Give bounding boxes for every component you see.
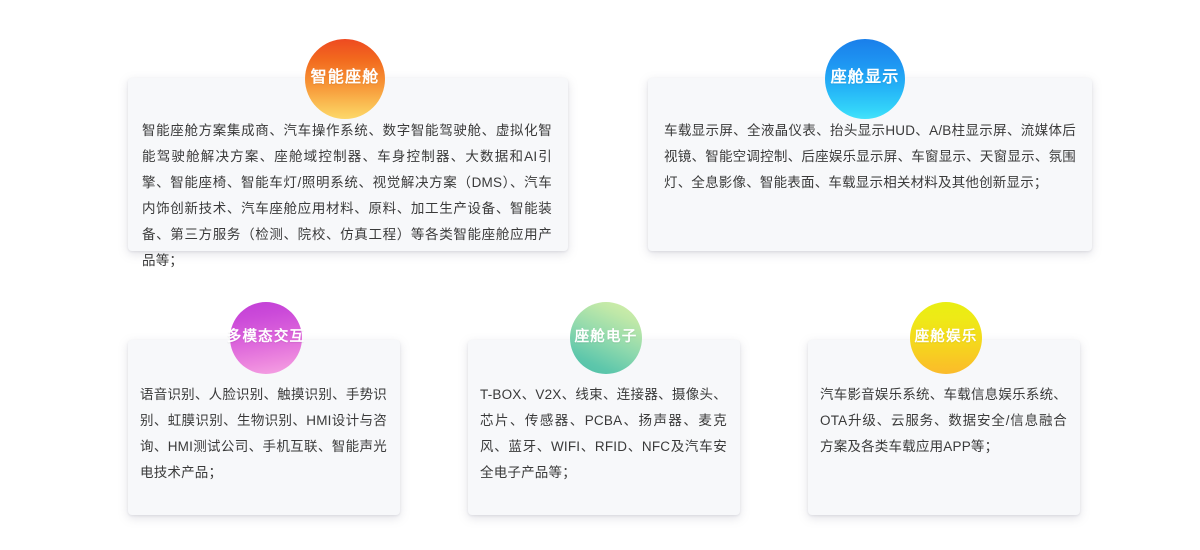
badge-label-cockpit-electronics: 座舱电子	[575, 330, 638, 345]
badge-label-cockpit-entertainment: 座舱娱乐	[915, 330, 978, 345]
card-body-multimodal-interaction: 语音识别、人脸识别、触摸识别、手势识别、虹膜识别、生物识别、HMI设计与咨询、H…	[140, 382, 387, 486]
card-body-intelligent-cockpit: 智能座舱方案集成商、汽车操作系统、数字智能驾驶舱、虚拟化智能驾驶舱解决方案、座舱…	[142, 118, 552, 274]
badge-label-multimodal-interaction: 多模态交互	[227, 330, 306, 345]
badge-intelligent-cockpit[interactable]: 智能座舱	[305, 39, 385, 119]
badge-cockpit-electronics[interactable]: 座舱电子	[570, 302, 642, 374]
card-body-cockpit-display: 车载显示屏、全液晶仪表、抬头显示HUD、A/B柱显示屏、流媒体后视镜、智能空调控…	[664, 118, 1076, 196]
badge-label-cockpit-display: 座舱显示	[831, 70, 900, 86]
category-card-board: 智能座舱方案集成商、汽车操作系统、数字智能驾驶舱、虚拟化智能驾驶舱解决方案、座舱…	[0, 0, 1200, 550]
card-body-cockpit-electronics: T-BOX、V2X、线束、连接器、摄像头、芯片、传感器、PCBA、扬声器、麦克风…	[480, 382, 727, 486]
badge-label-intelligent-cockpit: 智能座舱	[311, 70, 380, 86]
badge-cockpit-entertainment[interactable]: 座舱娱乐	[910, 302, 982, 374]
card-body-cockpit-entertainment: 汽车影音娱乐系统、车载信息娱乐系统、OTA升级、云服务、数据安全/信息融合方案及…	[820, 382, 1067, 460]
badge-cockpit-display[interactable]: 座舱显示	[825, 39, 905, 119]
badge-multimodal-interaction[interactable]: 多模态交互	[230, 302, 302, 374]
